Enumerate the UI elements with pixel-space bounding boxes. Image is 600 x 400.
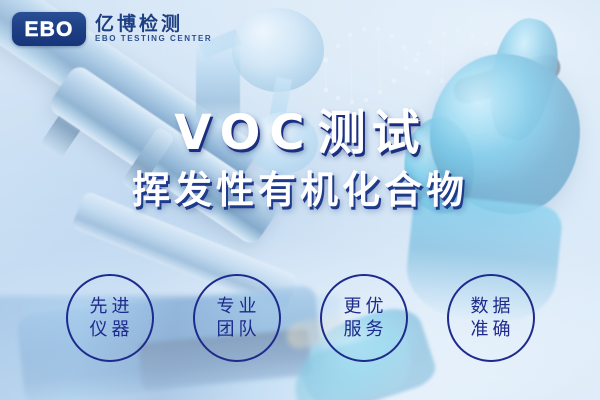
brand-name-block: 亿博检测 EBO TESTING CENTER: [95, 15, 212, 44]
logo-mark-text: EBO: [24, 19, 73, 40]
feature-badge-accuracy[interactable]: 数据 准确: [447, 274, 535, 362]
badge-line-2: 仪器: [86, 321, 134, 339]
badge-line-1: 数据: [467, 298, 515, 316]
logo-mark-icon: EBO: [12, 12, 86, 46]
badge-line-1: 专业: [213, 298, 261, 316]
badge-line-2: 服务: [340, 321, 388, 339]
brand-logo[interactable]: EBO 亿博检测 EBO TESTING CENTER: [12, 12, 212, 46]
feature-badge-team[interactable]: 专业 团队: [193, 274, 281, 362]
feature-badge-instruments[interactable]: 先进 仪器: [66, 274, 154, 362]
feature-badge-service[interactable]: 更优 服务: [320, 274, 408, 362]
voc-testing-banner: EBO 亿博检测 EBO TESTING CENTER VOC测试 挥发性有机化…: [0, 0, 600, 400]
feature-badge-list: 先进 仪器 专业 团队 更优 服务 数据 准确: [0, 274, 600, 362]
brand-name-cn: 亿博检测: [95, 15, 212, 35]
brand-name-en: EBO TESTING CENTER: [95, 35, 212, 43]
badge-line-1: 更优: [340, 298, 388, 316]
badge-line-2: 团队: [213, 321, 261, 339]
badge-line-2: 准确: [467, 321, 515, 339]
badge-line-1: 先进: [86, 298, 134, 316]
